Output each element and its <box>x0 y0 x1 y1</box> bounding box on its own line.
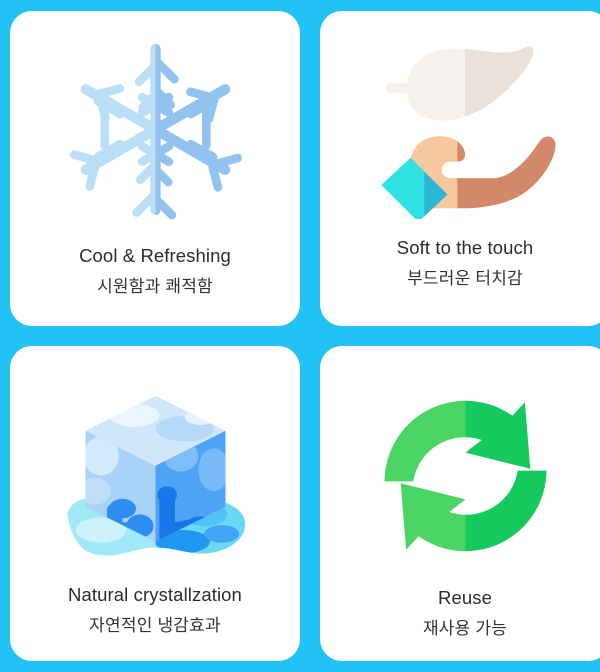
feature-card-text: Natural crystallzation 자연적인 냉감효과 <box>10 583 300 638</box>
feature-card-text: Reuse 재사용 가능 <box>320 586 600 641</box>
feature-card-natural-crystallization[interactable]: Natural crystallzation 자연적인 냉감효과 <box>10 346 300 661</box>
feature-title-en: Soft to the touch <box>328 236 600 260</box>
recycle-arrows-icon <box>373 386 558 566</box>
feather-on-hand-icon <box>365 39 565 219</box>
feature-card-text: Cool & Refreshing 시원함과 쾌적함 <box>10 244 300 299</box>
feature-title-ko: 재사용 가능 <box>328 617 600 641</box>
feature-title-ko: 부드러운 터치감 <box>328 267 600 291</box>
feature-title-ko: 시원함과 쾌적함 <box>18 275 292 299</box>
feature-card-text: Soft to the touch 부드러운 터치감 <box>320 236 600 291</box>
feature-card-soft-to-touch[interactable]: Soft to the touch 부드러운 터치감 <box>320 11 600 326</box>
feature-card-cool-refreshing[interactable]: Cool & Refreshing 시원함과 쾌적함 <box>10 11 300 326</box>
feature-card-reuse[interactable]: Reuse 재사용 가능 <box>320 346 600 661</box>
feature-title-en: Cool & Refreshing <box>18 244 292 268</box>
feature-title-en: Reuse <box>328 586 600 610</box>
feature-card-grid: Cool & Refreshing 시원함과 쾌적함 <box>0 0 600 672</box>
snowflake-icon <box>68 37 243 222</box>
feature-title-ko: 자연적인 냉감효과 <box>18 614 292 638</box>
ice-cube-icon <box>58 386 253 566</box>
feature-title-en: Natural crystallzation <box>18 583 292 607</box>
